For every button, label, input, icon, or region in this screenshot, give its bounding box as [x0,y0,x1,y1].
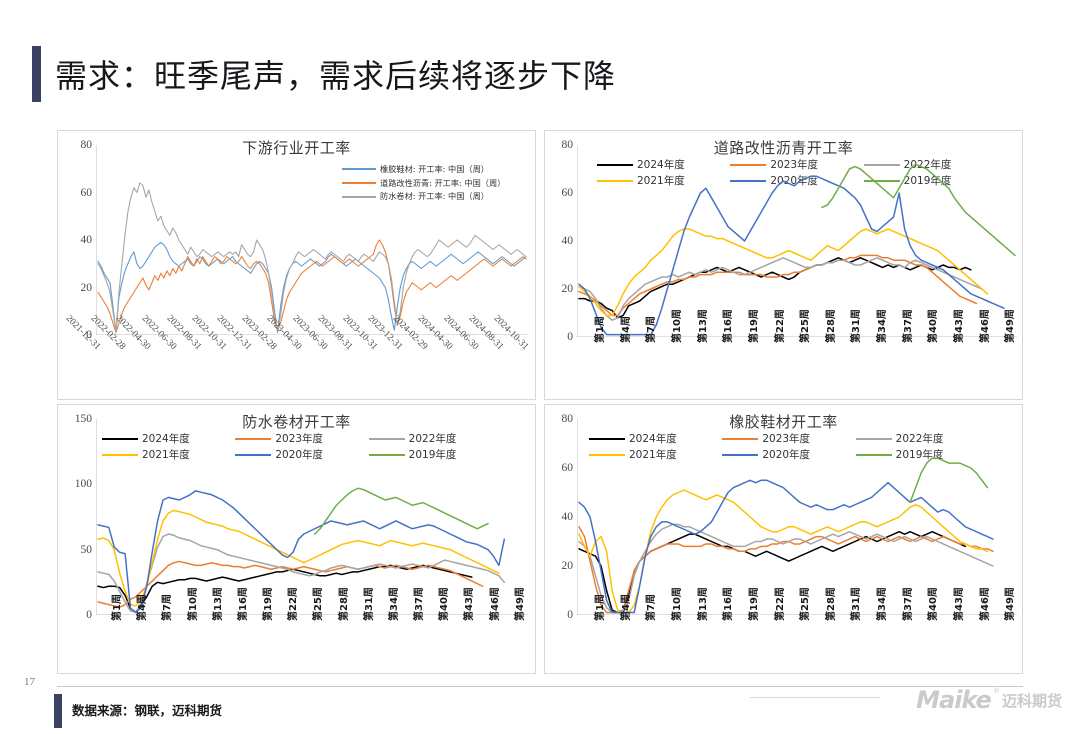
x-tick-label: 第1周 [108,594,123,621]
chart-panel-downstream: 下游行业开工率 橡胶鞋材: 开工率: 中国（周）道路改性沥青: 开工率: 中国（… [57,130,536,400]
logo-divider [750,697,880,698]
x-tick-label: 第34周 [873,309,888,343]
footer-source-text: 数据来源：钢联，迈科期货 [72,700,222,719]
title-accent-bar [32,46,41,102]
x-tick-label: 第43周 [460,587,475,621]
x-tick-label: 第34周 [873,587,888,621]
y-axis-downstream: 020406080 [58,131,92,400]
x-tick-label: 第31周 [360,587,375,621]
x-tick-label: 第28周 [335,587,350,621]
x-tick-label: 第7周 [642,594,657,621]
x-tick-label: 第49周 [1001,587,1016,621]
x-tick-label: 第10周 [668,309,683,343]
x-tick-label: 第4周 [133,594,148,621]
y-tick-label: 40 [562,235,574,247]
y-tick-label: 60 [562,462,574,474]
x-tick-label: 第37周 [899,309,914,343]
page-number: 17 [24,676,35,688]
plot-area-downstream [96,145,528,335]
y-axis-rubber-shoe: 020406080 [545,405,573,674]
x-tick-label: 第49周 [511,587,526,621]
x-tick-label: 第16周 [719,587,734,621]
x-tick-label: 第46周 [976,309,991,343]
chart-panel-rubber-shoe: 橡胶鞋材开工率 2024年度2023年度2022年度2021年度2020年度20… [544,404,1023,674]
x-tick-label: 第25周 [796,309,811,343]
x-tick-label: 第13周 [694,309,709,343]
x-tick-label: 第7周 [158,594,173,621]
y-tick-label: 40 [562,511,574,523]
x-tick-label: 第31周 [847,309,862,343]
plot-area-rubber-shoe [577,419,1017,615]
x-tick-label: 第37周 [899,587,914,621]
y-tick-label: 0 [567,609,573,621]
x-tick-label: 第43周 [950,309,965,343]
x-tick-label: 第19周 [745,309,760,343]
x-tick-label: 第46周 [486,587,501,621]
brand-logo: Maike ® 迈科期货 [916,686,1062,714]
y-tick-label: 100 [75,478,92,490]
x-tick-label: 第43周 [950,587,965,621]
title-text: 需求：旺季尾声，需求后续将逐步下降 [55,51,616,97]
footer-accent-bar [54,694,62,728]
y-tick-label: 20 [562,283,574,295]
x-tick-label: 第16周 [234,587,249,621]
y-tick-label: 80 [562,139,574,151]
x-tick-label: 第22周 [284,587,299,621]
y-tick-label: 20 [562,560,574,572]
x-tick-label: 第22周 [771,309,786,343]
y-tick-label: 0 [86,609,92,621]
x-tick-label: 第34周 [385,587,400,621]
logo-wordmark: Maike [916,686,991,714]
chart-panel-waterproof: 防水卷材开工率 2024年度2023年度2022年度2021年度2020年度20… [57,404,536,674]
x-tick-label: 第49周 [1001,309,1016,343]
y-axis-modified-asphalt: 020406080 [545,131,573,400]
logo-trademark-icon: ® [994,688,999,695]
x-tick-label: 第13周 [694,587,709,621]
x-tick-label: 第13周 [209,587,224,621]
y-tick-label: 60 [81,187,93,199]
x-tick-label: 第16周 [719,309,734,343]
x-tick-label: 第25周 [309,587,324,621]
x-tick-label: 第22周 [771,587,786,621]
y-tick-label: 20 [81,282,93,294]
x-tick-label: 第19周 [745,587,760,621]
x-tick-label: 第4周 [617,316,632,343]
page-title: 需求：旺季尾声，需求后续将逐步下降 [32,46,616,102]
y-tick-label: 80 [81,139,93,151]
x-tick-label: 第10周 [668,587,683,621]
x-tick-label: 第19周 [259,587,274,621]
slide-root: 需求：旺季尾声，需求后续将逐步下降 下游行业开工率 橡胶鞋材: 开工率: 中国（… [0,0,1080,734]
x-tick-label: 第7周 [642,316,657,343]
y-tick-label: 0 [567,331,573,343]
x-tick-label: 第4周 [617,594,632,621]
y-tick-label: 60 [562,187,574,199]
x-tick-label: 第40周 [435,587,450,621]
y-tick-label: 40 [81,234,93,246]
y-tick-label: 150 [75,413,92,425]
chart-grid: 下游行业开工率 橡胶鞋材: 开工率: 中国（周）道路改性沥青: 开工率: 中国（… [57,130,1023,670]
x-tick-label: 第28周 [822,587,837,621]
logo-chinese-name: 迈科期货 [1002,690,1062,711]
x-tick-label: 第10周 [184,587,199,621]
x-tick-label: 第28周 [822,309,837,343]
y-axis-waterproof: 050100150 [58,405,92,674]
chart-panel-modified-asphalt: 道路改性沥青开工率 2024年度2023年度2022年度2021年度2020年度… [544,130,1023,400]
x-tick-label: 第1周 [591,594,606,621]
x-tick-label: 第1周 [591,316,606,343]
x-tick-label: 第31周 [847,587,862,621]
plot-area-waterproof [96,419,528,615]
y-tick-label: 50 [81,544,93,556]
footer-divider [57,686,1023,687]
x-tick-label: 第37周 [410,587,425,621]
x-tick-label: 第40周 [924,309,939,343]
x-tick-label: 第46周 [976,587,991,621]
x-tick-label: 第40周 [924,587,939,621]
y-tick-label: 80 [562,413,574,425]
x-tick-label: 第25周 [796,587,811,621]
